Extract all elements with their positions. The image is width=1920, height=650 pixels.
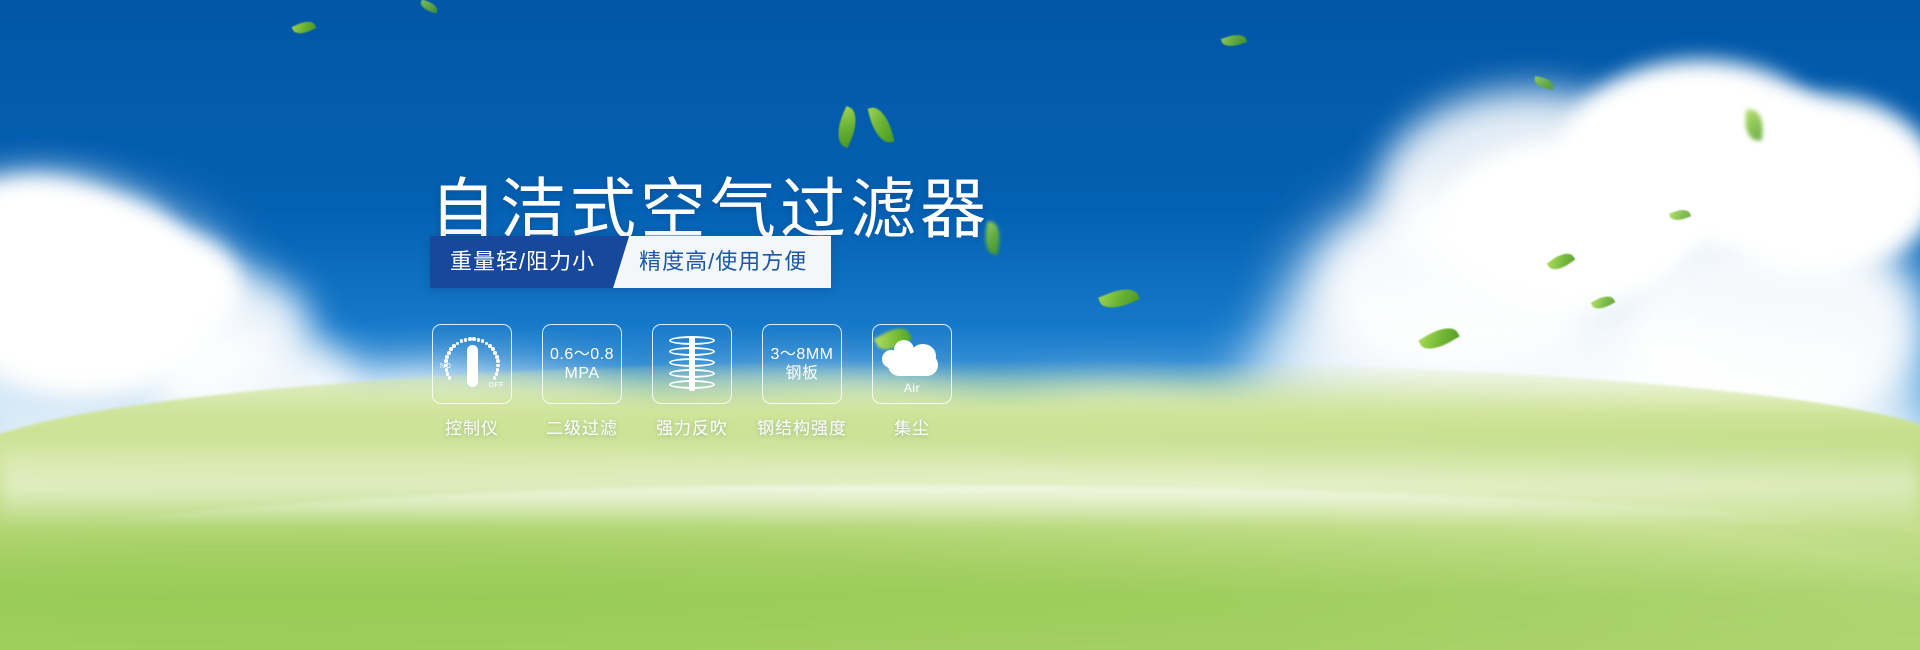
gauge-tick (444, 364, 448, 368)
gauge-needle (467, 345, 478, 387)
feature-label: 控制仪 (445, 414, 499, 439)
gauge-tick (496, 359, 500, 363)
air-label: Air (880, 381, 944, 395)
gauge-icon: NO OFF (441, 333, 503, 395)
page-title: 自洁式空气过滤器 (430, 176, 990, 242)
gauge-tick (493, 376, 497, 380)
gauge-tick (445, 355, 449, 359)
feature-label: 集尘 (894, 414, 930, 439)
gauge-tick (460, 339, 464, 343)
filter-ring (669, 358, 715, 367)
filter-ring (669, 347, 715, 356)
steel-text-icon: 3～8MM 钢板 (771, 345, 834, 383)
gauge-tick (477, 338, 481, 342)
cloud-body (888, 354, 938, 376)
feature-item-controller[interactable]: NO OFF 控制仪 (432, 324, 512, 439)
feature-item-steel-strength[interactable]: 3～8MM 钢板 钢结构强度 (762, 324, 842, 439)
tag-precision-convenience[interactable]: 精度高/使用方便 (613, 236, 831, 288)
feature-icon-box: NO OFF (432, 324, 512, 404)
filter-ring (669, 369, 715, 378)
gauge-tick (464, 338, 468, 342)
gauge-tick (447, 351, 451, 355)
banner-content: 自洁式空气过滤器 重量轻/阻力小 精度高/使用方便 NO OFF 控制仪 (0, 0, 1920, 650)
gauge-tick (496, 368, 500, 372)
feature-icon-box: Air (872, 324, 952, 404)
hero-banner: 自洁式空气过滤器 重量轻/阻力小 精度高/使用方便 NO OFF 控制仪 (0, 0, 1920, 650)
gauge-tick (448, 376, 452, 380)
gauge-tick (452, 344, 456, 348)
tag-weight-resistance[interactable]: 重量轻/阻力小 (430, 236, 629, 288)
gauge-tick (496, 364, 500, 368)
feature-icon-box (652, 324, 732, 404)
pressure-unit: MPA (550, 364, 614, 383)
tag-bar: 重量轻/阻力小 精度高/使用方便 (430, 236, 831, 288)
gauge-tick (468, 337, 472, 341)
feature-item-two-stage-filter[interactable]: 0.6～0.8 MPA 二级过滤 (542, 324, 622, 439)
feature-item-backblow[interactable]: 强力反吹 (652, 324, 732, 439)
feature-icon-box: 0.6～0.8 MPA (542, 324, 622, 404)
gauge-tick (495, 355, 499, 359)
feature-label: 强力反吹 (656, 414, 728, 439)
filter-ring (669, 380, 715, 389)
filter-ring (669, 336, 715, 345)
pressure-text-icon: 0.6～0.8 MPA (550, 345, 614, 383)
feature-item-dust-collection[interactable]: Air 集尘 (872, 324, 952, 439)
gauge-tick (481, 339, 485, 343)
gauge-tick (445, 368, 449, 372)
gauge-tick (472, 337, 476, 341)
feature-label: 钢结构强度 (757, 414, 847, 439)
gauge-label-off: OFF (489, 382, 505, 389)
gauge-tick (449, 347, 453, 351)
pressure-value: 0.6～0.8 (550, 345, 614, 364)
air-cloud-icon: Air (880, 336, 944, 392)
feature-label: 二级过滤 (546, 414, 618, 439)
title-leaf-left-icon (831, 106, 863, 148)
steel-material: 钢板 (771, 364, 834, 383)
title-leaf-right-icon (868, 104, 895, 145)
feature-list: NO OFF 控制仪 0.6～0.8 MPA 二级过滤 (432, 324, 952, 439)
filter-stack-icon (665, 335, 719, 393)
steel-thickness: 3～8MM (771, 345, 834, 364)
gauge-tick (456, 342, 460, 346)
feature-icon-box: 3～8MM 钢板 (762, 324, 842, 404)
